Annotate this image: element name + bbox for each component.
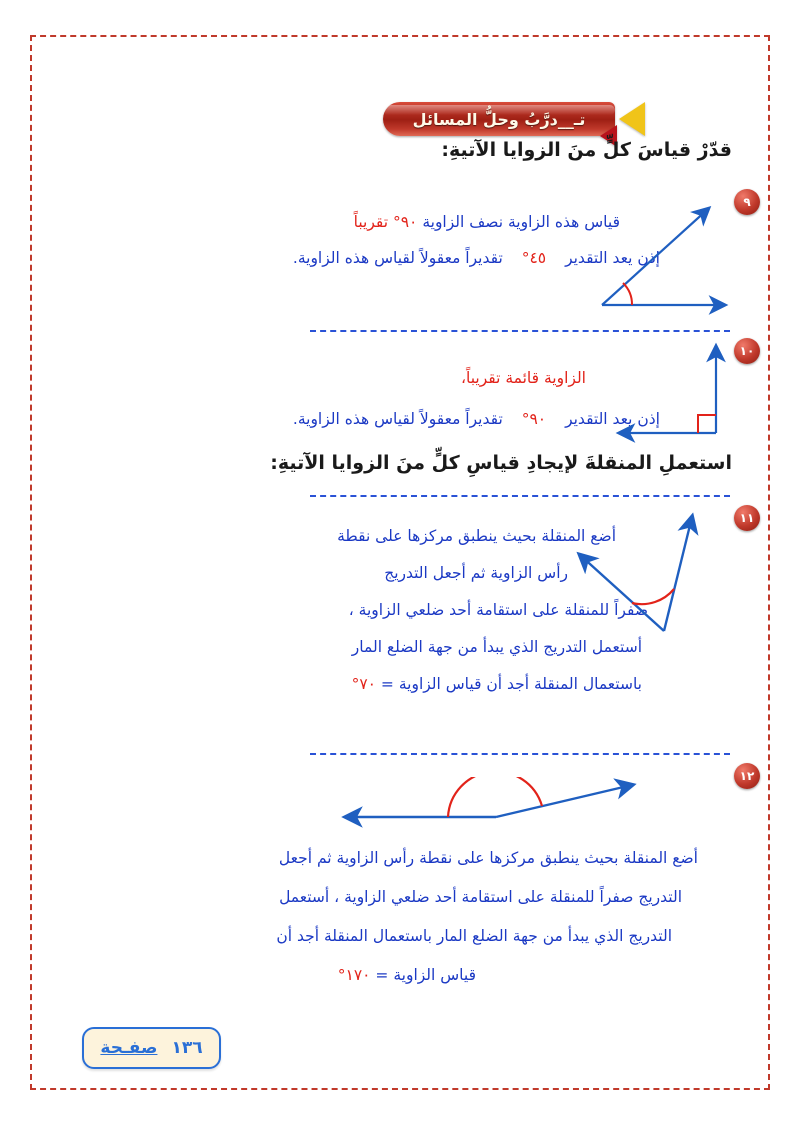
q12-line-2: التدريج صفراً للمنقلة على استقامة أحد ضل… <box>279 888 682 906</box>
section-banner: تـ__درَّبُ وحلُّ المسائل <box>383 102 643 136</box>
q10-line-1-answer: الزاوية قائمة تقريباً، <box>461 369 586 387</box>
q12-line-4-answer: ١٧٠° <box>338 966 371 984</box>
q11-line-2: رأس الزاوية ثم أجعل التدريج <box>384 564 568 582</box>
banner-arrow-icon <box>619 102 645 136</box>
q11-line-5-text: باستعمال المنقلة أجد أن قياس الزاوية = <box>381 675 642 693</box>
q10-line-1: الزاوية قائمة تقريباً، <box>461 369 586 387</box>
q10-line-2: إذن يعد التقدير ٩٠° تقديراً معقولاً لقيا… <box>293 410 660 428</box>
q12-line-4-text: قياس الزاوية = <box>375 966 476 984</box>
figure-acute-angle-45 <box>588 197 738 317</box>
q9-line-1-answer: ٩٠° تقريباً <box>354 213 418 231</box>
question-number-12: ١٢ <box>734 763 760 789</box>
separator-2 <box>310 495 730 497</box>
page-label: صفـحة <box>100 1038 157 1058</box>
q12-line-3: التدريج الذي يبدأ من جهة الضلع المار باس… <box>276 927 672 945</box>
q9-line-2-answer: ٤٥° <box>508 249 560 267</box>
section-heading-protractor: استعملِ المنقلةَ لإيجادِ قياسِ كلٍّ منَ … <box>270 452 732 474</box>
separator-3 <box>310 753 730 755</box>
section-heading-estimate: قدّرْ قياسَ كلٍّ منَ الزوايا الآتيةِ: <box>441 139 732 161</box>
page-number-badge: ١٣٦ صفـحة <box>82 1027 221 1069</box>
q10-line-2-answer: ٩٠° <box>508 410 560 428</box>
q11-line-5: باستعمال المنقلة أجد أن قياس الزاوية = ٧… <box>352 675 642 693</box>
separator-1 <box>310 330 730 332</box>
worksheet-page: تـ__درَّبُ وحلُّ المسائل قدّرْ قياسَ كلٍ… <box>30 35 770 1090</box>
figure-obtuse-angle-170 <box>328 777 648 837</box>
figure-angle-70 <box>572 507 732 647</box>
page-number-value: ١٣٦ <box>171 1038 202 1058</box>
banner-body: تـ__درَّبُ وحلُّ المسائل <box>383 102 615 136</box>
q12-line-4: قياس الزاوية = ١٧٠° <box>338 966 476 984</box>
question-number-11: ١١ <box>734 505 760 531</box>
page-content: تـ__درَّبُ وحلُّ المسائل قدّرْ قياسَ كلٍ… <box>32 37 768 1088</box>
q10-line-2-tail: تقديراً معقولاً لقياس هذه الزاوية. <box>293 410 503 428</box>
q12-line-1: أضع المنقلة بحيث ينطبق مركزها على نقطة ر… <box>279 849 698 867</box>
figure-right-angle-90 <box>612 337 742 447</box>
banner-title: تـ__درَّبُ وحلُّ المسائل <box>383 102 615 136</box>
q11-line-5-answer: ٧٠° <box>352 675 376 693</box>
q9-line-2-tail: تقديراً معقولاً لقياس هذه الزاوية. <box>293 249 503 267</box>
q9-line-1: قياس هذه الزاوية نصف الزاوية ٩٠° تقريباً <box>354 213 620 231</box>
